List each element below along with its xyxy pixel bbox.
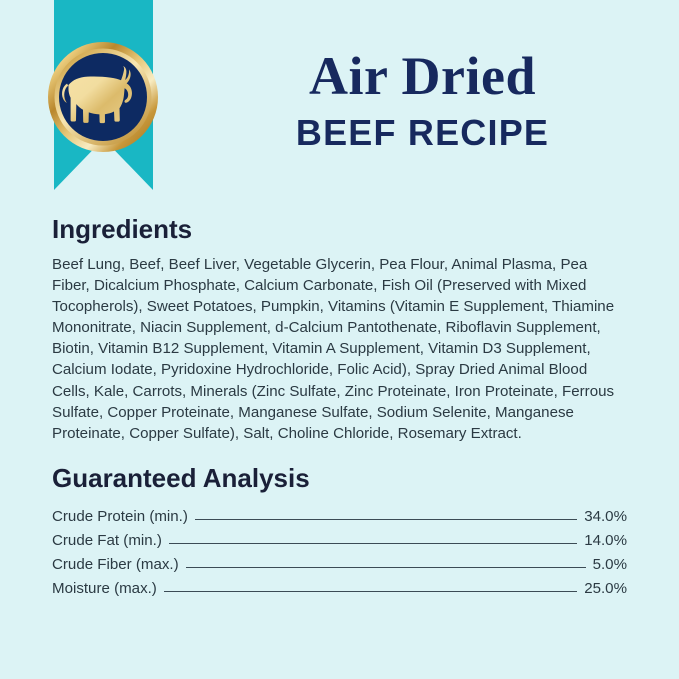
page-subtitle: BEEF RECIPE: [196, 113, 649, 153]
leader-line: [164, 591, 577, 592]
analysis-row: Crude Fiber (max.) 5.0%: [52, 549, 627, 573]
analysis-label: Crude Protein (min.): [52, 509, 188, 525]
guaranteed-analysis-section: Guaranteed Analysis Crude Protein (min.)…: [52, 463, 627, 597]
label-header: Air Dried BEEF RECIPE: [0, 0, 679, 205]
product-label-panel: Air Dried BEEF RECIPE Ingredients Beef L…: [0, 0, 679, 679]
analysis-label: Crude Fiber (max.): [52, 557, 179, 573]
ingredients-heading: Ingredients: [52, 214, 627, 245]
ingredients-list-text: Beef Lung, Beef, Beef Liver, Vegetable G…: [52, 254, 625, 444]
page-title: Air Dried: [196, 48, 649, 104]
analysis-value: 5.0%: [593, 557, 627, 573]
analysis-row: Crude Fat (min.) 14.0%: [52, 525, 627, 549]
leader-line: [169, 543, 577, 544]
cow-medallion-icon: [47, 41, 159, 153]
analysis-label: Crude Fat (min.): [52, 533, 162, 549]
analysis-row: Moisture (max.) 25.0%: [52, 573, 627, 597]
leader-line: [195, 519, 577, 520]
label-content: Ingredients Beef Lung, Beef, Beef Liver,…: [52, 214, 627, 597]
analysis-label: Moisture (max.): [52, 581, 157, 597]
leader-line: [186, 567, 586, 568]
analysis-value: 14.0%: [584, 533, 627, 549]
analysis-value: 34.0%: [584, 509, 627, 525]
title-block: Air Dried BEEF RECIPE: [196, 48, 649, 153]
analysis-value: 25.0%: [584, 581, 627, 597]
guaranteed-analysis-heading: Guaranteed Analysis: [52, 463, 627, 494]
analysis-row: Crude Protein (min.) 34.0%: [52, 501, 627, 525]
ingredients-section: Ingredients Beef Lung, Beef, Beef Liver,…: [52, 214, 627, 444]
